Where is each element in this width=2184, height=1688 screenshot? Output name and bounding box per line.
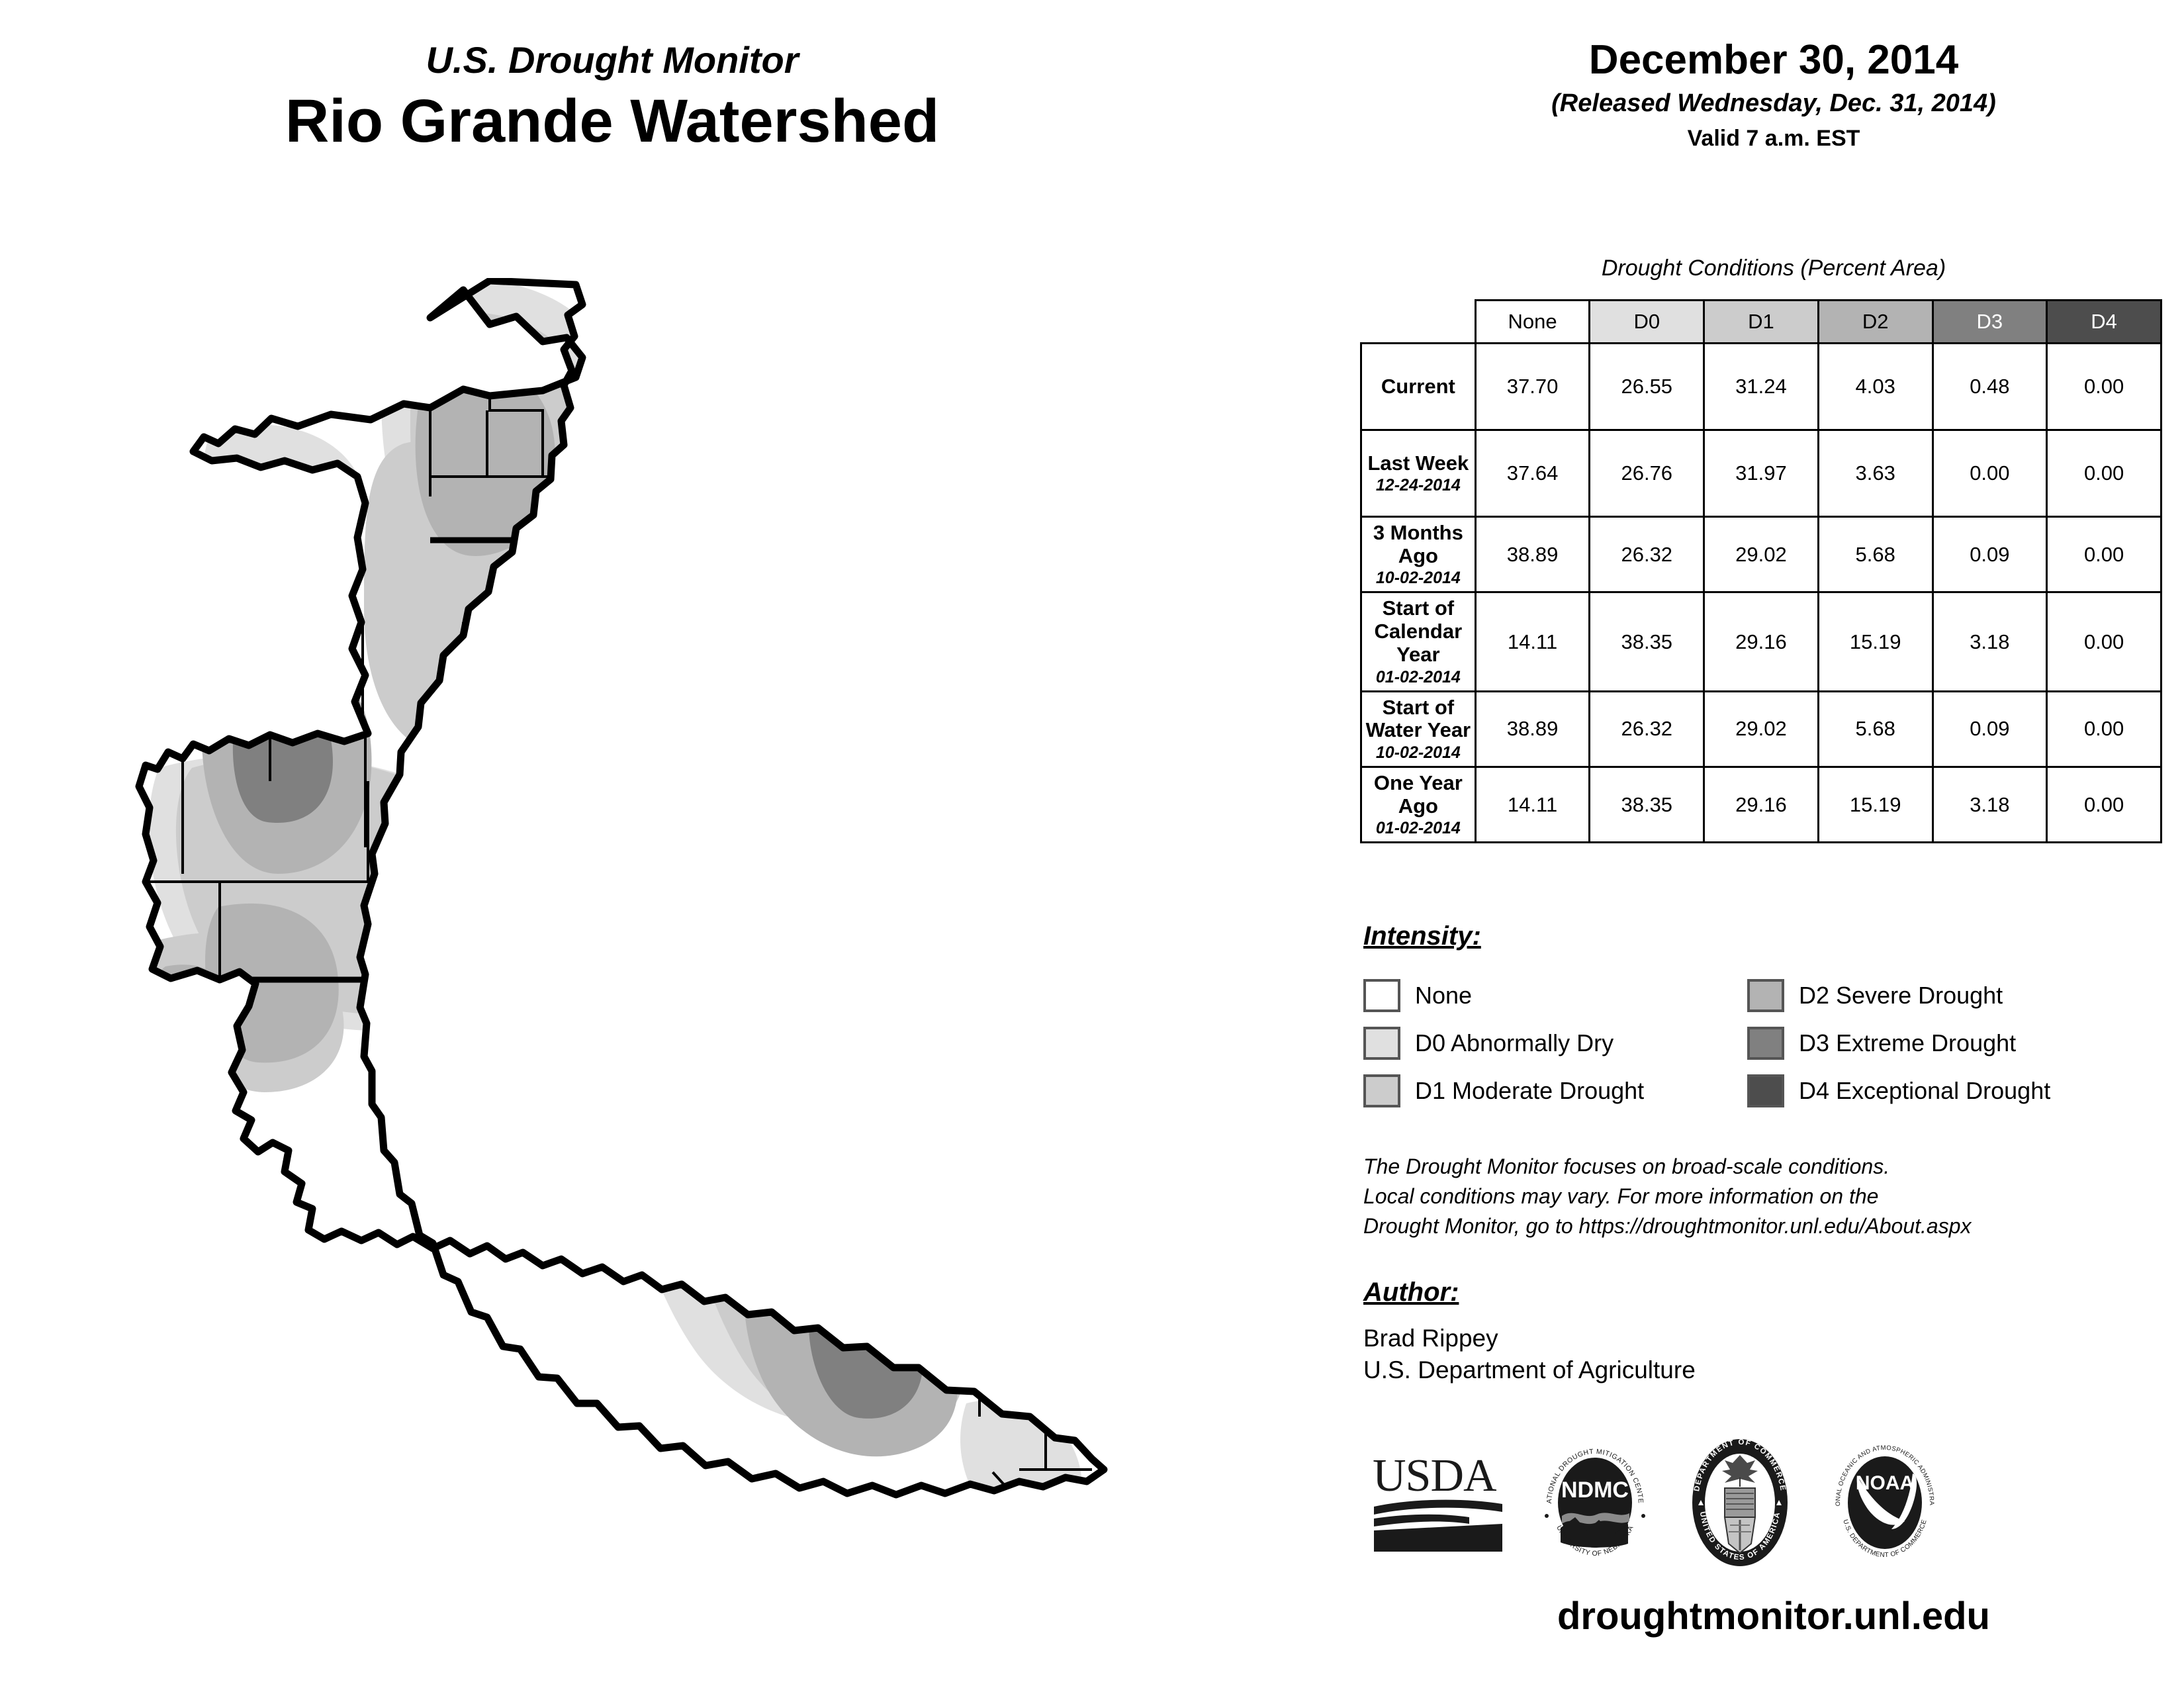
cell-d0: 26.76	[1590, 430, 1704, 517]
svg-text:USDA: USDA	[1373, 1450, 1497, 1501]
drought-conditions-table: None D0 D1 D2 D3 D4 Current 37.70 26.55 …	[1360, 299, 2162, 843]
cell-none: 37.70	[1475, 344, 1590, 430]
col-header-d2: D2	[1818, 301, 1933, 344]
row-label-date: 01-02-2014	[1365, 668, 1472, 686]
legend-label-d0: D0 Abnormally Dry	[1415, 1029, 1614, 1057]
legend-item-d4: D4 Exceptional Drought	[1747, 1067, 2131, 1115]
noaa-wordmark: NOAA	[1856, 1472, 1914, 1494]
legend-label-d3: D3 Extreme Drought	[1799, 1029, 2016, 1057]
col-header-d1: D1	[1704, 301, 1819, 344]
legend-item-none: None	[1363, 972, 1747, 1019]
cell-d3: 0.09	[1933, 691, 2047, 767]
usda-logo: USDA	[1370, 1450, 1506, 1559]
released-line: (Released Wednesday, Dec. 31, 2014)	[1363, 90, 2184, 117]
cell-d4: 0.00	[2047, 430, 2161, 517]
ndmc-logo: NDMC NATIONAL DROUGHT MITIGATION CENTER …	[1535, 1436, 1655, 1572]
cell-d3: 3.18	[1933, 592, 2047, 691]
cell-d3: 0.09	[1933, 517, 2047, 592]
legend-item-d2: D2 Severe Drought	[1747, 972, 2131, 1019]
row-label-start-of-calendar-year: Start of Calendar Year 01-02-2014	[1361, 592, 1476, 691]
cell-d4: 0.00	[2047, 767, 2161, 843]
col-header-none: None	[1475, 301, 1590, 344]
cell-d3: 3.18	[1933, 767, 2047, 843]
drought-map[interactable]	[119, 278, 1244, 1569]
cell-d2: 4.03	[1818, 344, 1933, 430]
row-label-date: 10-02-2014	[1365, 569, 1472, 587]
row-label-start-of-water-year: Start of Water Year 10-02-2014	[1361, 691, 1476, 767]
legend-swatch-none	[1363, 979, 1400, 1012]
ndmc-wordmark: NDMC	[1561, 1477, 1629, 1503]
table-corner-cell	[1361, 301, 1476, 344]
map-supertitle: U.S. Drought Monitor	[0, 41, 1224, 80]
disclaimer-line-1: The Drought Monitor focuses on broad-sca…	[1363, 1152, 2158, 1182]
site-url[interactable]: droughtmonitor.unl.edu	[1363, 1594, 2184, 1638]
legend-swatch-d0	[1363, 1027, 1400, 1060]
cell-d0: 38.35	[1590, 767, 1704, 843]
cell-d1: 29.02	[1704, 517, 1819, 592]
map-title-block: U.S. Drought Monitor Rio Grande Watershe…	[0, 41, 1224, 153]
cell-d1: 31.24	[1704, 344, 1819, 430]
legend-swatch-d2	[1747, 979, 1784, 1012]
cell-d4: 0.00	[2047, 691, 2161, 767]
legend-item-d1: D1 Moderate Drought	[1363, 1067, 1747, 1115]
legend-label-d2: D2 Severe Drought	[1799, 982, 2003, 1009]
drought-map-svg[interactable]	[119, 278, 1244, 1569]
cell-d0: 38.35	[1590, 592, 1704, 691]
cell-d2: 3.63	[1818, 430, 1933, 517]
valid-line: Valid 7 a.m. EST	[1363, 126, 2184, 151]
cell-d3: 0.48	[1933, 344, 2047, 430]
row-label-date: 01-02-2014	[1365, 819, 1472, 837]
author-heading: Author:	[1363, 1278, 1459, 1307]
release-date: December 30, 2014	[1363, 38, 2184, 82]
table-row: Start of Calendar Year 01-02-2014 14.11 …	[1361, 592, 2161, 691]
cell-d4: 0.00	[2047, 592, 2161, 691]
cell-none: 38.89	[1475, 517, 1590, 592]
row-label-text: Start of Water Year	[1366, 696, 1471, 742]
row-label-text: Last Week	[1367, 451, 1469, 475]
cell-d4: 0.00	[2047, 344, 2161, 430]
logo-row: USDA NDMC NATIONAL DROUGHT MITIGATION CE…	[1363, 1433, 2184, 1575]
row-label-text: One Year Ago	[1374, 771, 1463, 818]
noaa-logo: NOAA NATIONAL OCEANIC AND ATMOSPHERIC AD…	[1825, 1436, 1944, 1572]
cell-d2: 15.19	[1818, 767, 1933, 843]
legend-swatch-d1	[1363, 1074, 1400, 1107]
cell-none: 14.11	[1475, 592, 1590, 691]
table-row: Current 37.70 26.55 31.24 4.03 0.48 0.00	[1361, 344, 2161, 430]
cell-d0: 26.55	[1590, 344, 1704, 430]
row-label-current: Current	[1361, 344, 1476, 430]
cell-d3: 0.00	[1933, 430, 2047, 517]
intensity-heading: Intensity:	[1363, 921, 1481, 951]
author-block: Brad Rippey U.S. Department of Agricultu…	[1363, 1323, 1696, 1386]
cell-d0: 26.32	[1590, 517, 1704, 592]
cell-none: 38.89	[1475, 691, 1590, 767]
row-label-text: Current	[1381, 375, 1455, 398]
row-label-text: 3 Months Ago	[1373, 521, 1463, 567]
cell-d1: 29.16	[1704, 592, 1819, 691]
cell-d2: 15.19	[1818, 592, 1933, 691]
row-label-last-week: Last Week 12-24-2014	[1361, 430, 1476, 517]
page-title: Rio Grande Watershed	[0, 89, 1224, 154]
col-header-d0: D0	[1590, 301, 1704, 344]
cell-d2: 5.68	[1818, 691, 1933, 767]
table-row: 3 Months Ago 10-02-2014 38.89 26.32 29.0…	[1361, 517, 2161, 592]
table-row: Last Week 12-24-2014 37.64 26.76 31.97 3…	[1361, 430, 2161, 517]
author-affiliation: U.S. Department of Agriculture	[1363, 1354, 1696, 1386]
row-label-date: 10-02-2014	[1365, 743, 1472, 762]
legend-label-none: None	[1415, 982, 1472, 1009]
cell-none: 37.64	[1475, 430, 1590, 517]
cell-d2: 5.68	[1818, 517, 1933, 592]
author-name: Brad Rippey	[1363, 1323, 1696, 1354]
row-label-date: 12-24-2014	[1365, 476, 1472, 494]
cell-d1: 31.97	[1704, 430, 1819, 517]
disclaimer-line-3: Drought Monitor, go to https://droughtmo…	[1363, 1211, 2158, 1241]
table-row: Start of Water Year 10-02-2014 38.89 26.…	[1361, 691, 2161, 767]
disclaimer: The Drought Monitor focuses on broad-sca…	[1363, 1152, 2158, 1241]
legend-swatch-d4	[1747, 1074, 1784, 1107]
col-header-d3: D3	[1933, 301, 2047, 344]
table-caption: Drought Conditions (Percent Area)	[1363, 256, 2184, 281]
table-header-row: None D0 D1 D2 D3 D4	[1361, 301, 2161, 344]
legend-swatch-d3	[1747, 1027, 1784, 1060]
cell-d4: 0.00	[2047, 517, 2161, 592]
cell-d0: 26.32	[1590, 691, 1704, 767]
disclaimer-line-2: Local conditions may vary. For more info…	[1363, 1182, 2158, 1211]
table-row: One Year Ago 01-02-2014 14.11 38.35 29.1…	[1361, 767, 2161, 843]
legend-item-d3: D3 Extreme Drought	[1747, 1019, 2131, 1067]
map-panel: U.S. Drought Monitor Rio Grande Watershe…	[0, 0, 1363, 1688]
cell-d1: 29.02	[1704, 691, 1819, 767]
legend-label-d4: D4 Exceptional Drought	[1799, 1077, 2050, 1105]
row-label-3-months-ago: 3 Months Ago 10-02-2014	[1361, 517, 1476, 592]
cell-none: 14.11	[1475, 767, 1590, 843]
date-block: December 30, 2014 (Released Wednesday, D…	[1363, 38, 2184, 150]
row-label-text: Start of Calendar Year	[1375, 596, 1463, 665]
cell-d1: 29.16	[1704, 767, 1819, 843]
row-label-one-year-ago: One Year Ago 01-02-2014	[1361, 767, 1476, 843]
doc-seal: DEPARTMENT OF COMMERCE UNITED STATES OF …	[1684, 1436, 1796, 1572]
col-header-d4: D4	[2047, 301, 2161, 344]
info-panel: December 30, 2014 (Released Wednesday, D…	[1363, 0, 2184, 1688]
legend-item-d0: D0 Abnormally Dry	[1363, 1019, 1747, 1067]
legend-label-d1: D1 Moderate Drought	[1415, 1077, 1644, 1105]
intensity-legend: None D2 Severe Drought D0 Abnormally Dry…	[1363, 972, 2184, 1115]
